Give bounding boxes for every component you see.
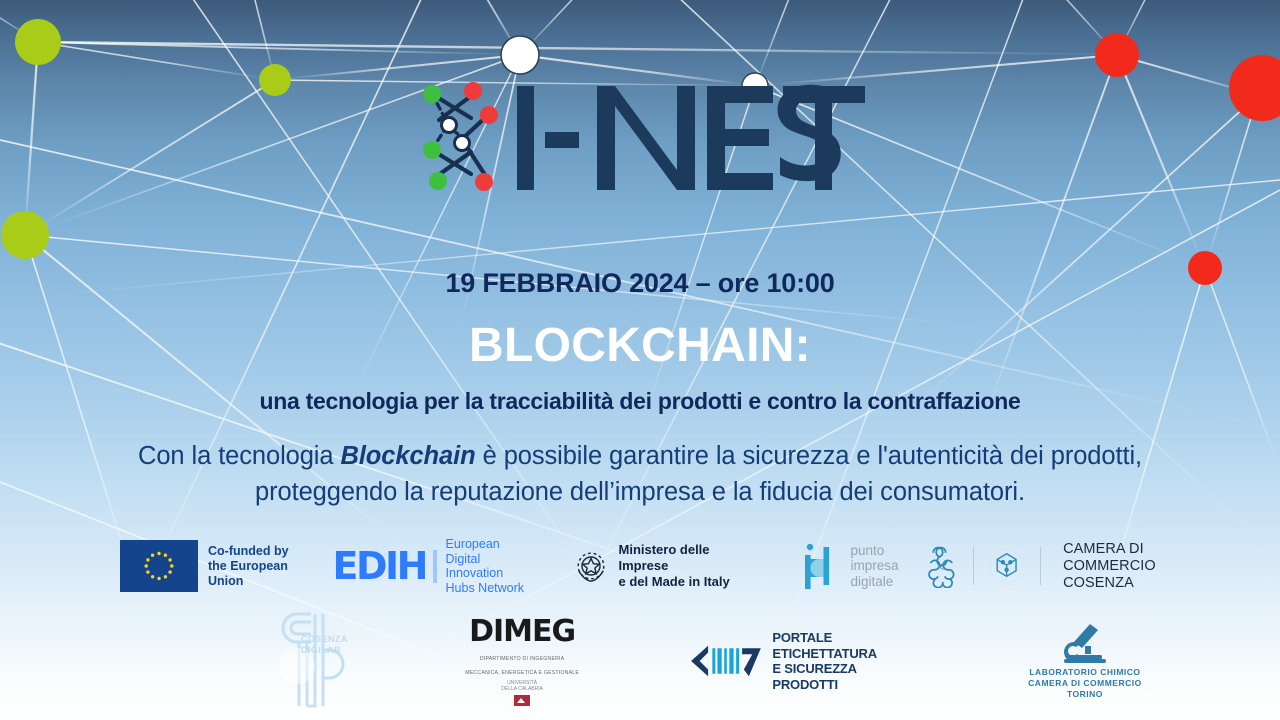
sponsor-logo-row-secondary: COSENZA DIGILAB DIMEG DIPARTIMENTO DI IN…: [255, 606, 1150, 716]
pid-label: punto impresa digitale: [850, 543, 898, 590]
page-subtitle: una tecnologia per la tracciabilità dei …: [0, 388, 1280, 415]
laboratorio-label: LABORATORIO CHIMICO CAMERA DI COMMERCIO …: [1020, 667, 1150, 700]
microscope-icon: [1056, 622, 1114, 664]
dimeg-unical-logo: DIMEG DIPARTIMENTO DI INGEGNERIA MECCANI…: [458, 617, 586, 706]
logo-divider: [1040, 547, 1041, 585]
dimeg-department-label: DIPARTIMENTO DI INGEGNERIA MECCANICA, EN…: [465, 649, 579, 677]
cosenza-digilab-logo: COSENZA DIGILAB: [255, 606, 366, 716]
camera-commercio-label: CAMERA DI COMMERCIO COSENZA: [1063, 541, 1230, 592]
eu-cofunded-logo: Co-funded by the European Union: [120, 540, 317, 592]
edih-acronym: EDIH: [333, 544, 426, 588]
camera-commercio-cosenza-logo: C CAMERA DI COMMERCIO COSENZA: [923, 541, 1231, 592]
ministero-imprese-logo: Ministero delle Imprese e del Made in It…: [573, 542, 755, 590]
dimeg-sub-line-1: DIPARTIMENTO DI INGEGNERIA: [480, 656, 564, 662]
punto-impresa-digitale-logo: punto impresa digitale: [799, 541, 898, 591]
portale-label: PORTALE ETICHETTATURA E SICUREZZA PRODOT…: [772, 630, 915, 692]
edih-divider: [433, 550, 437, 583]
unical-label: UNIVERSITÀ DELLA CALABRIA: [501, 680, 543, 693]
logo-divider: [973, 547, 974, 585]
camere-commercio-network-icon: C: [923, 544, 963, 588]
cosenza-chamber-seal-icon: [985, 543, 1028, 589]
description-text: Con la tecnologia Blockchain è possibile…: [138, 438, 1142, 510]
pid-mark-icon: [799, 541, 843, 591]
description-part-1: Con la tecnologia: [138, 442, 341, 470]
svg-text:C: C: [939, 562, 945, 572]
sponsor-logo-row-primary: Co-funded by the European Union EDIH Eur…: [120, 538, 1230, 594]
edih-label: European Digital Innovation Hubs Network: [446, 537, 532, 595]
edih-logo: EDIH European Digital Innovation Hubs Ne…: [333, 537, 532, 595]
eu-flag-icon: [120, 540, 198, 592]
digilab-mark-icon: [259, 606, 369, 716]
eu-cofunded-label: Co-funded by the European Union: [208, 544, 317, 589]
italian-republic-emblem-icon: [573, 546, 609, 586]
event-poster: 19 FEBBRAIO 2024 – ore 10:00 BLOCKCHAIN:…: [0, 0, 1280, 720]
laboratorio-chimico-torino-logo: LABORATORIO CHIMICO CAMERA DI COMMERCIO …: [1020, 622, 1150, 700]
dimeg-sub-line-2: MECCANICA, ENERGETICA E GESTIONALE: [465, 670, 579, 676]
network-graph-icon: [409, 78, 505, 194]
i-nest-logo: [0, 78, 1280, 194]
event-date: 19 FEBBRAIO 2024 – ore 10:00: [0, 268, 1280, 299]
digilab-label: COSENZA DIGILAB: [301, 634, 348, 656]
portale-etichettatura-logo: PORTALE ETICHETTATURA E SICUREZZA PRODOT…: [686, 630, 915, 692]
unical-mark-icon: [514, 695, 530, 706]
i-nest-wordmark: [511, 80, 871, 192]
barcode-icon: [686, 641, 764, 681]
description-emphasis: Blockchain: [341, 442, 476, 470]
dimeg-acronym: DIMEG: [469, 617, 575, 647]
ministero-label: Ministero delle Imprese e del Made in It…: [619, 542, 756, 590]
page-title: BLOCKCHAIN:: [0, 318, 1280, 373]
